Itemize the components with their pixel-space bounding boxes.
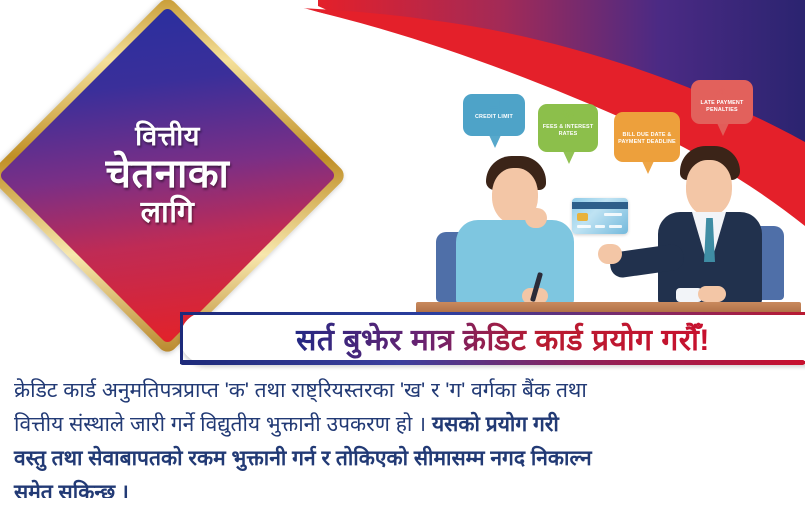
body-line-4: समेत सकिन्छ । bbox=[14, 476, 794, 508]
body-line-1: क्रेडिट कार्ड अनुमतिपत्रप्राप्त 'क' तथा … bbox=[14, 374, 794, 408]
bubble-late-label: LATE PAYMENT PENALTIES bbox=[694, 100, 750, 114]
bubble-fees-label: FEES & INTEREST RATES bbox=[541, 124, 595, 138]
credit-limit-gauge-icon: ▤ bbox=[487, 98, 500, 112]
headline-underline-bar bbox=[180, 360, 805, 365]
logo-line-1: वित्तीय bbox=[135, 123, 200, 150]
percent-recycle-icon: ％ bbox=[561, 108, 575, 122]
bubble-fees-interest: ％ FEES & INTEREST RATES bbox=[538, 104, 598, 152]
poster-canvas: वित्तीय चेतनाका लागि ▤ CREDIT LIMIT ％ FE… bbox=[0, 0, 805, 508]
warning-triangle-icon: ⚠ bbox=[716, 84, 729, 98]
calendar-clock-icon: ▦ bbox=[640, 116, 653, 130]
headline-text: सर्त बुझेर मात्र क्रेडिट कार्ड प्रयोग गर… bbox=[286, 318, 720, 359]
financial-awareness-logo: वित्तीय चेतनाका लागि bbox=[40, 48, 295, 303]
customer-illustration bbox=[430, 146, 600, 304]
headline-banner: सर्त बुझेर मात्र क्रेडिट कार्ड प्रयोग गर… bbox=[180, 312, 805, 364]
bubble-tail bbox=[717, 123, 729, 136]
body-text-bold: यसको प्रयोग गरी bbox=[432, 413, 559, 436]
bubble-late-payment-penalties: ⚠ LATE PAYMENT PENALTIES bbox=[691, 80, 753, 124]
logo-line-2: चेतनाका bbox=[106, 154, 230, 194]
open-hand bbox=[598, 244, 622, 264]
hand-on-chin bbox=[525, 208, 547, 228]
body-line-2: वित्तीय संस्थाले जारी गर्ने विद्युतीय भु… bbox=[14, 408, 794, 442]
bubble-credit-limit-label: CREDIT LIMIT bbox=[475, 114, 513, 121]
head bbox=[686, 160, 732, 216]
body-paragraph: क्रेडिट कार्ड अनुमतिपत्रप्राप्त 'क' तथा … bbox=[14, 374, 794, 508]
diamond-label-group: वित्तीय चेतनाका लागि bbox=[40, 48, 295, 303]
body-text: क्रेडिट कार्ड अनुमतिपत्रप्राप्त 'क' तथा … bbox=[14, 379, 587, 402]
body-text-bold: वस्तु तथा सेवाबापतको रकम भुक्तानी गर्न र… bbox=[14, 447, 592, 470]
torso-sweater bbox=[456, 220, 574, 304]
hand-on-desk bbox=[698, 286, 726, 302]
body-line-3: वस्तु तथा सेवाबापतको रकम भुक्तानी गर्न र… bbox=[14, 442, 794, 476]
body-text-bold: समेत सकिन्छ । bbox=[14, 481, 129, 504]
logo-line-3: लागि bbox=[141, 198, 195, 228]
banker-illustration bbox=[620, 138, 798, 304]
bubble-credit-limit: ▤ CREDIT LIMIT bbox=[463, 94, 525, 136]
illustration-scene: ▤ CREDIT LIMIT ％ FEES & INTEREST RATES ▦… bbox=[408, 58, 805, 318]
body-text: वित्तीय संस्थाले जारी गर्ने विद्युतीय भु… bbox=[14, 413, 432, 436]
